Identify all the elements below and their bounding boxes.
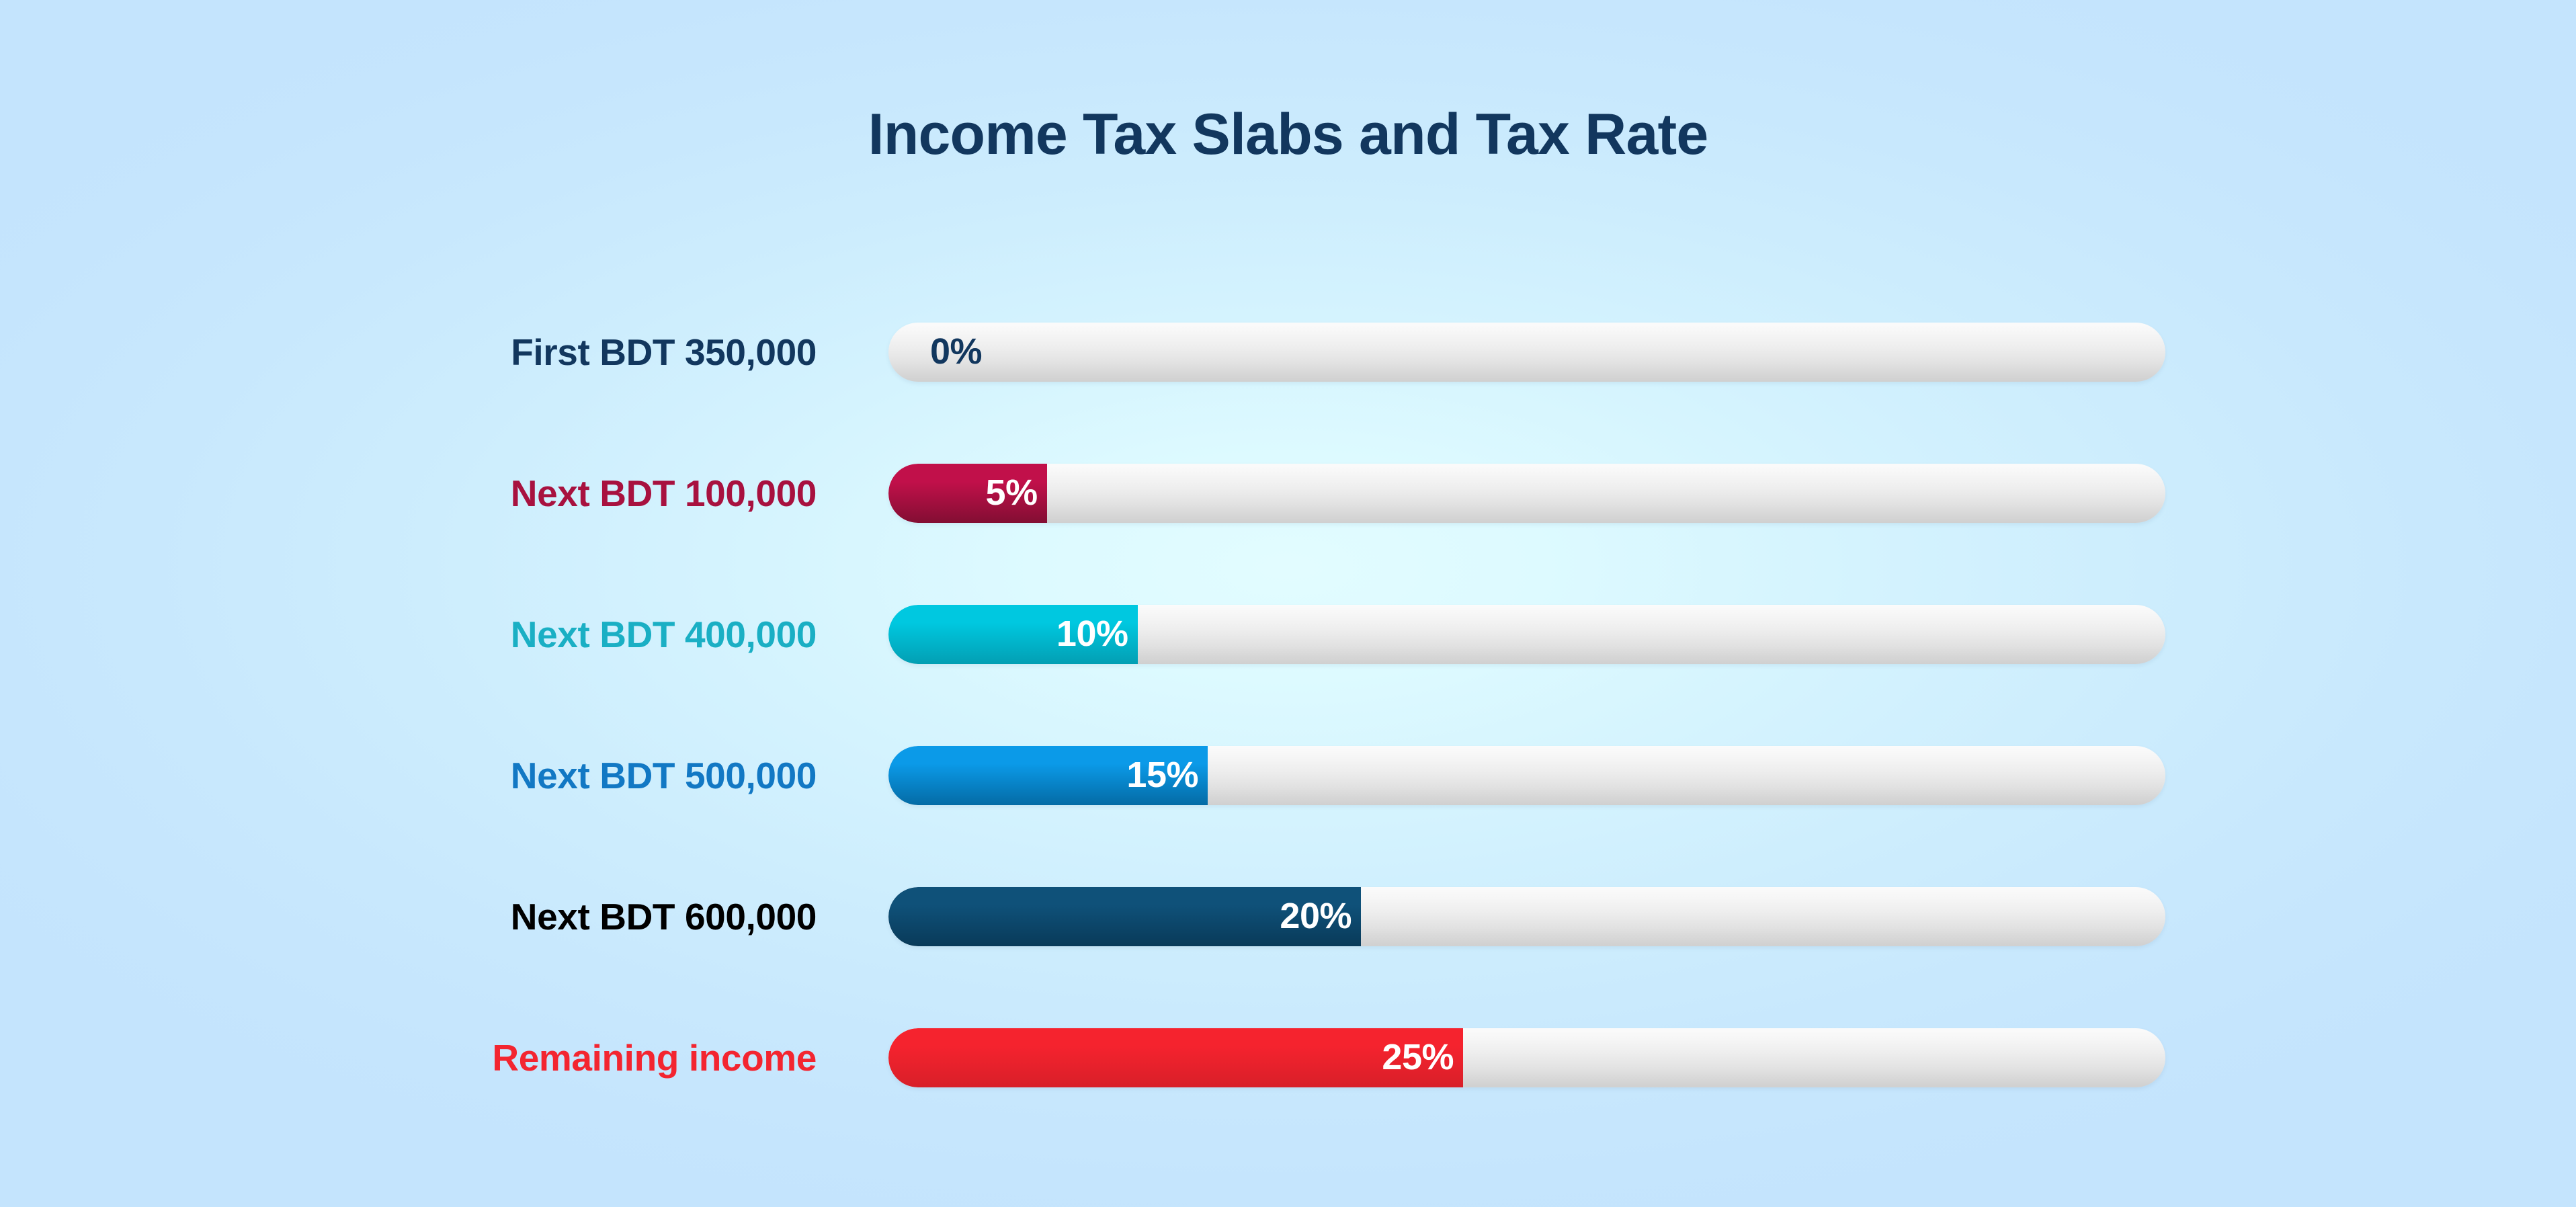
page-title: Income Tax Slabs and Tax Rate: [0, 101, 2576, 168]
tax-rate-bar-track: 25%: [888, 1028, 2165, 1087]
slab-label: Next BDT 400,000: [0, 605, 817, 664]
tax-rate-value: 25%: [888, 1028, 1463, 1087]
tax-slab-row: Next BDT 600,00020%: [0, 887, 2576, 946]
slab-label: Next BDT 500,000: [0, 746, 817, 805]
tax-slab-list: First BDT 350,0000%Next BDT 100,0005%Nex…: [0, 323, 2576, 1087]
tax-rate-value: 15%: [888, 746, 1208, 805]
tax-slab-row: Next BDT 400,00010%: [0, 605, 2576, 664]
tax-rate-value: 5%: [888, 464, 1047, 523]
slab-label: Next BDT 600,000: [0, 887, 817, 946]
tax-slab-row: First BDT 350,0000%: [0, 323, 2576, 382]
tax-rate-bar-track: 20%: [888, 887, 2165, 946]
tax-rate-bar-track: 0%: [888, 323, 2165, 382]
tax-rate-value: 20%: [888, 887, 1361, 946]
slab-label: First BDT 350,000: [0, 323, 817, 382]
tax-rate-bar-track: 10%: [888, 605, 2165, 664]
slab-label: Remaining income: [0, 1028, 817, 1087]
tax-slab-row: Next BDT 100,0005%: [0, 464, 2576, 523]
tax-rate-value: 10%: [888, 605, 1138, 664]
infographic-canvas: Income Tax Slabs and Tax Rate First BDT …: [0, 0, 2576, 1207]
tax-rate-bar-track: 15%: [888, 746, 2165, 805]
tax-slab-row: Next BDT 500,00015%: [0, 746, 2576, 805]
tax-rate-value: 0%: [930, 323, 982, 382]
tax-slab-row: Remaining income25%: [0, 1028, 2576, 1087]
slab-label: Next BDT 100,000: [0, 464, 817, 523]
tax-rate-bar-track: 5%: [888, 464, 2165, 523]
